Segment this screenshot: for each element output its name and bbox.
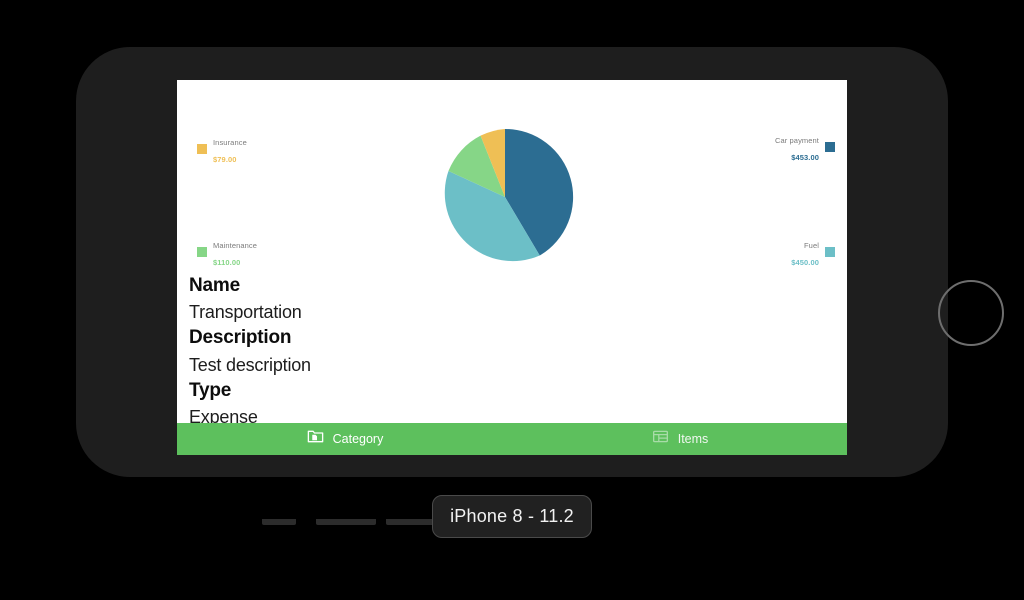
detail-value-name: Transportation [189, 299, 835, 325]
detail-heading-type: Type [189, 378, 835, 404]
legend-text-maintenance: Maintenance $110.00 [213, 235, 257, 270]
legend-value-insurance: $79.00 [213, 155, 237, 164]
legend-swatch-car-payment [825, 142, 835, 152]
legend-value-car-payment: $453.00 [791, 153, 819, 162]
detail-heading-name: Name [189, 273, 835, 299]
legend-label-insurance: Insurance [213, 138, 247, 147]
expense-pie-chart-area: Insurance $79.00 Maintenance $110.00 Car… [177, 80, 847, 273]
device-name-pill: iPhone 8 - 11.2 [432, 495, 592, 538]
pie-chart[interactable] [435, 127, 575, 267]
legend-label-maintenance: Maintenance [213, 241, 257, 250]
legend-label-car-payment: Car payment [775, 136, 819, 145]
table-grid-icon [651, 427, 670, 451]
mute-switch[interactable] [262, 519, 296, 525]
tab-category-label: Category [333, 432, 384, 446]
device-name-label: iPhone 8 - 11.2 [450, 506, 574, 527]
detail-value-description: Test description [189, 352, 835, 378]
tab-category[interactable]: Category [177, 423, 512, 455]
legend-swatch-insurance [197, 144, 207, 154]
legend-value-fuel: $450.00 [791, 258, 819, 267]
detail-heading-description: Description [189, 325, 835, 351]
home-button[interactable] [938, 280, 1004, 346]
device-screen: Insurance $79.00 Maintenance $110.00 Car… [177, 80, 847, 455]
bottom-tab-bar: Category Items [177, 423, 847, 455]
legend-item-maintenance: Maintenance $110.00 [197, 235, 257, 270]
legend-swatch-fuel [825, 247, 835, 257]
legend-value-maintenance: $110.00 [213, 258, 240, 267]
folder-document-icon [306, 427, 325, 451]
legend-text-car-payment: Car payment $453.00 [775, 130, 819, 165]
legend-item-insurance: Insurance $79.00 [197, 132, 247, 167]
tab-items[interactable]: Items [512, 423, 847, 455]
legend-item-car-payment: Car payment $453.00 [775, 130, 835, 165]
legend-item-fuel: Fuel $450.00 [791, 235, 835, 270]
volume-up-button[interactable] [316, 519, 376, 525]
legend-text-fuel: Fuel $450.00 [791, 235, 819, 270]
legend-label-fuel: Fuel [804, 241, 819, 250]
tab-items-label: Items [678, 432, 709, 446]
legend-swatch-maintenance [197, 247, 207, 257]
legend-text-insurance: Insurance $79.00 [213, 132, 247, 167]
